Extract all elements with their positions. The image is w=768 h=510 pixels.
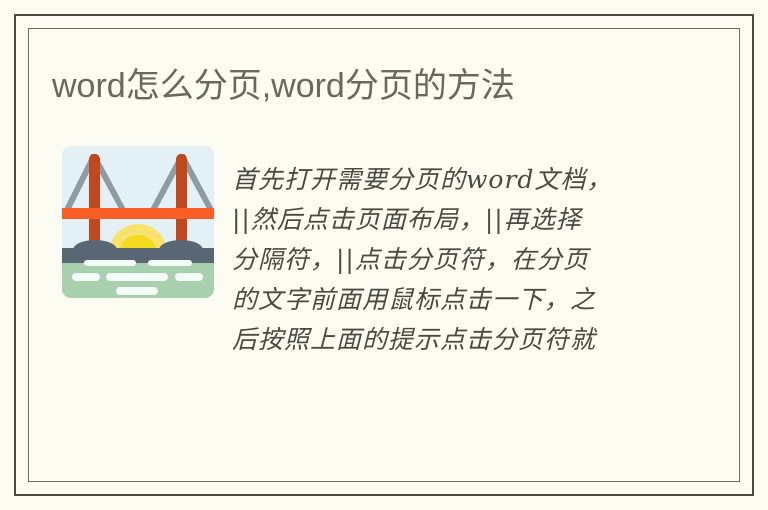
body-line: 首先打开需要分页的word文档， [232, 160, 656, 200]
body-line: ||然后点击页面布局，||再选择 [232, 200, 656, 240]
article-body: 首先打开需要分页的word文档， ||然后点击页面布局，||再选择 分隔符，||… [232, 160, 656, 360]
body-line: 分隔符，||点击分页符，在分页 [232, 240, 656, 280]
body-line: 的文字前面用鼠标点击一下，之 [232, 280, 656, 320]
article-title: word怎么分页,word分页的方法 [52, 64, 702, 108]
article-card: word怎么分页,word分页的方法 [0, 0, 768, 510]
bridge-sunset-illustration [62, 146, 214, 298]
body-line: 后按照上面的提示点击分页符就 [232, 320, 656, 360]
bridge-roadway [62, 208, 214, 219]
